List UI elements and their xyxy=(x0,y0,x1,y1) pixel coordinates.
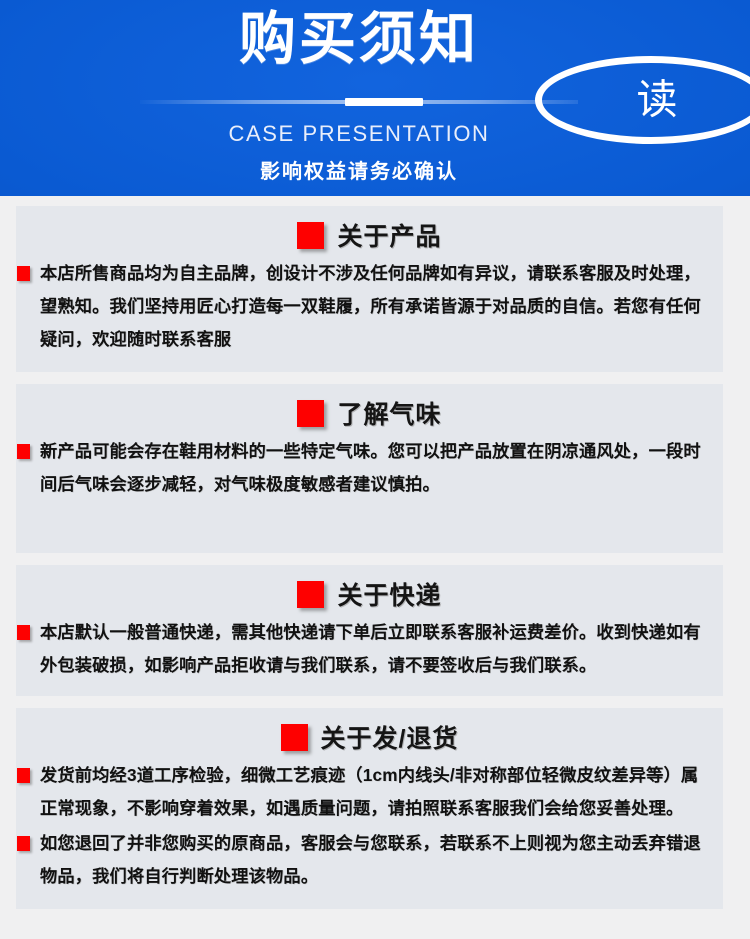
section-title-returns: 关于发/退货 xyxy=(16,708,723,759)
section-title-text: 关于产品 xyxy=(337,223,441,251)
red-bullet-icon xyxy=(17,836,30,851)
notice-card-returns: 关于发/退货 发货前均经3道工序检验，细微工艺痕迹（1cm内线头/非对称部位轻微… xyxy=(16,708,723,909)
title-divider-highlight xyxy=(345,98,423,106)
section-title-product: 关于产品 xyxy=(16,206,723,257)
red-bullet-icon xyxy=(17,768,30,783)
page-header-banner: 购买须知 CASE PRESENTATION 影响权益请务必确认 读 xyxy=(0,0,750,196)
section-body-product: 本店所售商品均为自主品牌，创设计不涉及任何品牌如有异议，请联系客服及时处理，望熟… xyxy=(16,257,723,372)
section-body-returns: 发货前均经3道工序检验，细微工艺痕迹（1cm内线头/非对称部位轻微皮纹差异等）属… xyxy=(16,759,723,909)
notice-sections: 关于产品 本店所售商品均为自主品牌，创设计不涉及任何品牌如有异议，请联系客服及时… xyxy=(0,206,750,909)
red-square-icon xyxy=(297,400,324,427)
section-title-text: 了解气味 xyxy=(337,401,441,429)
paragraph: 如您退回了并非您购买的原商品，客服会与您联系，若联系不上则视为您主动丢弃错退物品… xyxy=(16,827,723,893)
paragraph: 本店默认一般普通快递，需其他快递请下单后立即联系客服补运费差价。收到快递如有外包… xyxy=(16,616,723,682)
red-bullet-icon xyxy=(17,625,30,640)
red-bullet-icon xyxy=(17,444,30,459)
read-badge-label: 读 xyxy=(535,80,750,121)
section-title-odor: 了解气味 xyxy=(16,384,723,435)
paragraph: 本店所售商品均为自主品牌，创设计不涉及任何品牌如有异议，请联系客服及时处理，望熟… xyxy=(16,257,723,356)
notice-card-product: 关于产品 本店所售商品均为自主品牌，创设计不涉及任何品牌如有异议，请联系客服及时… xyxy=(16,206,723,372)
red-square-icon xyxy=(297,581,324,608)
banner-subtitle-chinese: 影响权益请务必确认 xyxy=(0,155,750,184)
paragraph-text: 新产品可能会存在鞋用材料的一些特定气味。您可以把产品放置在阴凉通风处，一段时间后… xyxy=(40,435,711,501)
red-square-icon xyxy=(297,222,324,249)
notice-card-odor: 了解气味 新产品可能会存在鞋用材料的一些特定气味。您可以把产品放置在阴凉通风处，… xyxy=(16,384,723,553)
section-body-shipping: 本店默认一般普通快递，需其他快递请下单后立即联系客服补运费差价。收到快递如有外包… xyxy=(16,616,723,696)
paragraph-text: 本店默认一般普通快递，需其他快递请下单后立即联系客服补运费差价。收到快递如有外包… xyxy=(40,616,711,682)
notice-card-shipping: 关于快递 本店默认一般普通快递，需其他快递请下单后立即联系客服补运费差价。收到快… xyxy=(16,565,723,696)
paragraph-text: 发货前均经3道工序检验，细微工艺痕迹（1cm内线头/非对称部位轻微皮纹差异等）属… xyxy=(40,759,711,825)
read-badge: 读 xyxy=(535,56,750,144)
paragraph: 新产品可能会存在鞋用材料的一些特定气味。您可以把产品放置在阴凉通风处，一段时间后… xyxy=(16,435,723,501)
paragraph: 发货前均经3道工序检验，细微工艺痕迹（1cm内线头/非对称部位轻微皮纹差异等）属… xyxy=(16,759,723,825)
paragraph-text: 如您退回了并非您购买的原商品，客服会与您联系，若联系不上则视为您主动丢弃错退物品… xyxy=(40,827,711,893)
section-title-shipping: 关于快递 xyxy=(16,565,723,616)
red-bullet-icon xyxy=(17,266,30,281)
section-title-text: 关于发/退货 xyxy=(321,725,459,753)
section-title-text: 关于快递 xyxy=(337,582,441,610)
red-square-icon xyxy=(281,724,308,751)
banner-inner: 购买须知 CASE PRESENTATION 影响权益请务必确认 读 xyxy=(0,0,750,196)
section-body-odor: 新产品可能会存在鞋用材料的一些特定气味。您可以把产品放置在阴凉通风处，一段时间后… xyxy=(16,435,723,553)
paragraph-text: 本店所售商品均为自主品牌，创设计不涉及任何品牌如有异议，请联系客服及时处理，望熟… xyxy=(40,257,711,356)
